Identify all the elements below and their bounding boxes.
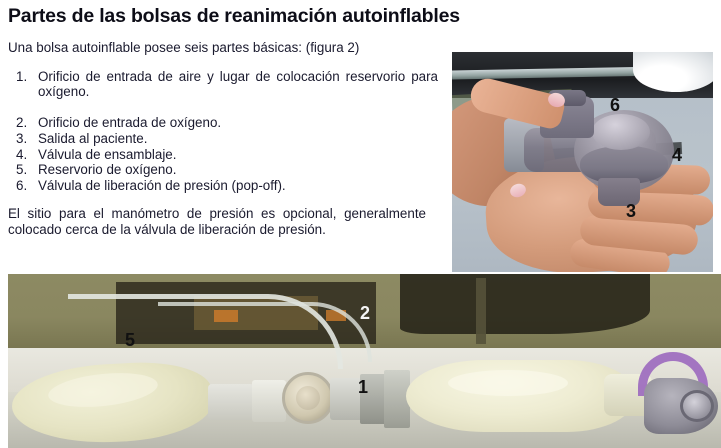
list-item-label: Válvula de ensamblaje. [38, 147, 438, 163]
callout-4-assembly-valve: 4 [672, 146, 682, 164]
list-item: 6. Válvula de liberación de presión (pop… [8, 178, 438, 194]
list-item-number: 4. [8, 147, 38, 163]
callout-6-pop-off-valve: 6 [610, 96, 620, 114]
list-item-label: Válvula de liberación de presión (pop-of… [38, 178, 438, 194]
air-inlet-valve-center [296, 386, 320, 410]
callout-5-oxygen-reservoir: 5 [125, 331, 135, 349]
figure-full-bag-photo: 5 2 1 [8, 274, 721, 448]
list-item: 3. Salida al paciente. [8, 131, 438, 147]
list-item-number: 3. [8, 131, 38, 147]
self-inflating-bag-highlight [448, 370, 568, 396]
callout-3-patient-outlet: 3 [626, 202, 636, 220]
list-item-label: Salida al paciente. [38, 131, 438, 147]
list-item-number: 2. [8, 115, 38, 131]
callout-1-air-inlet: 1 [358, 378, 368, 396]
outro-paragraph: El sitio para el manómetro de presión es… [8, 206, 426, 237]
list-item: 1. Orificio de entrada de aire y lugar d… [8, 69, 438, 116]
text-column: Partes de las bolsas de reanimación auto… [8, 4, 446, 238]
vertical-post [476, 278, 486, 344]
callout-2-oxygen-inlet: 2 [360, 304, 370, 322]
list-item: 2. Orificio de entrada de oxígeno. [8, 115, 438, 131]
list-item-number: 1. [8, 69, 38, 116]
intro-paragraph: Una bolsa autoinflable posee seis partes… [8, 40, 426, 56]
parts-list: 1. Orificio de entrada de aire y lugar d… [8, 69, 438, 194]
valve-dome-top [592, 114, 650, 150]
list-item-label: Orificio de entrada de aire y lugar de c… [38, 69, 438, 116]
list-item-number: 6. [8, 178, 38, 194]
list-item-label: Reservorio de oxígeno. [38, 162, 438, 178]
document-page: Partes de las bolsas de reanimación auto… [0, 0, 721, 448]
figure-hand-valve-photo: 6 4 3 [452, 52, 713, 272]
list-item-label: Orificio de entrada de oxígeno. [38, 115, 438, 131]
list-item: 5. Reservorio de oxígeno. [8, 162, 438, 178]
patient-valve-port [680, 390, 714, 422]
dark-area-right [400, 274, 650, 334]
connector-2 [252, 380, 286, 422]
list-item-number: 5. [8, 162, 38, 178]
connector-1 [208, 384, 254, 420]
list-item: 4. Válvula de ensamblaje. [8, 147, 438, 163]
oxygen-tubing-secondary [158, 302, 372, 362]
page-title: Partes de las bolsas de reanimación auto… [8, 4, 446, 28]
